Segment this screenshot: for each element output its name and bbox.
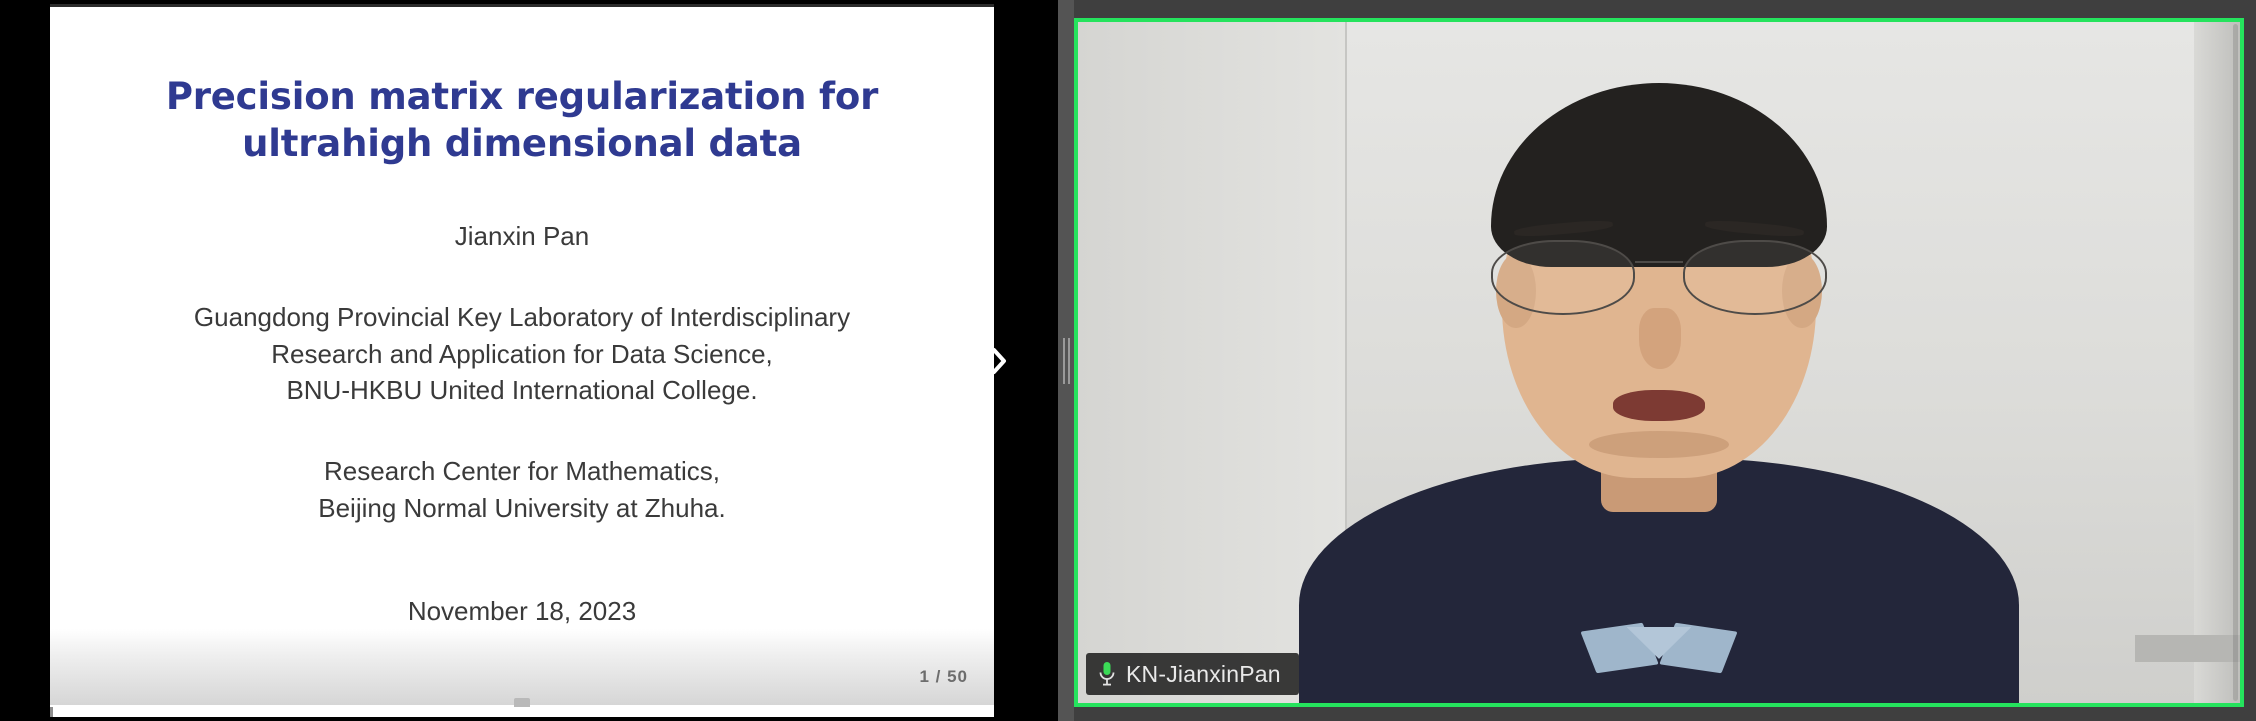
slide-affiliation-primary: Guangdong Provincial Key Laboratory of I… — [86, 299, 958, 410]
affiliation-line: Beijing Normal University at Zhuha. — [86, 490, 958, 527]
nose — [1639, 308, 1681, 369]
video-scrollbar[interactable] — [2233, 24, 2238, 701]
microphone-icon — [1098, 661, 1116, 687]
video-pane: KN-JianxinPan — [1074, 0, 2256, 721]
participant-name-label: KN-JianxinPan — [1126, 661, 1281, 688]
slide-affiliation-secondary: Research Center for Mathematics, Beijing… — [86, 453, 958, 527]
webcam-feed — [1078, 22, 2240, 703]
affiliation-line: Research and Application for Data Scienc… — [86, 336, 958, 373]
affiliation-line: Guangdong Provincial Key Laboratory of I… — [86, 299, 958, 336]
slide-viewer[interactable]: Precision matrix regularization for ultr… — [50, 4, 994, 717]
slide-date: November 18, 2023 — [86, 593, 958, 630]
mouth — [1613, 390, 1706, 421]
bridge — [1635, 261, 1682, 264]
slide-footer-bar: 1 / 50 — [50, 629, 994, 707]
lens-right — [1683, 240, 1828, 315]
scroll-nub[interactable] — [514, 698, 530, 707]
slide-content: Precision matrix regularization for ultr… — [50, 7, 994, 639]
expand-panel-button[interactable] — [986, 340, 1012, 382]
person — [1078, 22, 2240, 703]
slide-author: Jianxin Pan — [86, 218, 958, 255]
chin-shadow — [1589, 431, 1728, 458]
slide-title: Precision matrix regularization for ultr… — [86, 73, 958, 168]
affiliation-line: BNU-HKBU United International College. — [86, 372, 958, 409]
participant-video-tile[interactable]: KN-JianxinPan — [1074, 18, 2244, 707]
participant-name-badge: KN-JianxinPan — [1086, 653, 1299, 695]
eyeglasses — [1491, 240, 1828, 315]
meeting-window: Precision matrix regularization for ultr… — [0, 0, 2256, 721]
chevron-right-icon — [988, 343, 1010, 379]
page-counter: 1 / 50 — [919, 667, 968, 687]
pane-drag-handle[interactable] — [1058, 0, 1074, 721]
shared-screen-pane[interactable]: Precision matrix regularization for ultr… — [0, 0, 1058, 721]
grip-icon — [1063, 338, 1070, 384]
lens-left — [1491, 240, 1636, 315]
affiliation-line: Research Center for Mathematics, — [86, 453, 958, 490]
